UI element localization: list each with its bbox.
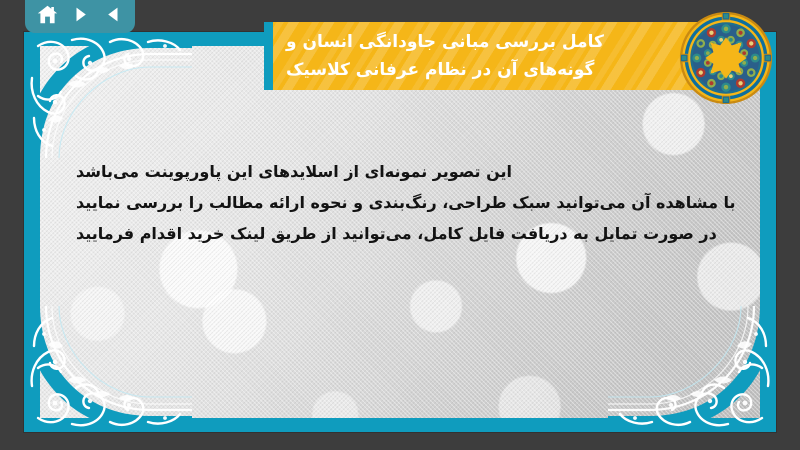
triangle-left-icon <box>105 6 122 23</box>
banner-accent-strip <box>264 22 273 90</box>
title-banner: کامل بررسی مبانی جاودانگی انسان و گونه‌ه… <box>272 22 752 90</box>
triangle-right-icon <box>72 6 89 23</box>
slide-body-text: این تصویر نمونه‌ای از اسلایدهای این پاور… <box>64 160 776 246</box>
title-line-1: کامل بررسی مبانی جاودانگی انسان و <box>286 29 604 55</box>
page-title: کامل بررسی مبانی جاودانگی انسان و گونه‌ه… <box>272 22 752 90</box>
home-icon <box>37 5 58 24</box>
home-button[interactable] <box>34 2 60 26</box>
back-button[interactable] <box>100 2 126 26</box>
body-line-3: در صورت تمایل به دریافت فایل کامل، می‌تو… <box>64 222 717 246</box>
slide-board: این تصویر نمونه‌ای از اسلایدهای این پاور… <box>24 32 776 432</box>
slide-viewer: این تصویر نمونه‌ای از اسلایدهای این پاور… <box>0 0 800 450</box>
title-line-2: گونه‌های آن در نظام عرفانی کلاسیک <box>286 57 594 83</box>
forward-button[interactable] <box>67 2 93 26</box>
body-line-2: با مشاهده آن می‌توانید سبک طراحی، رنگ‌بن… <box>64 191 736 215</box>
navigation-bar <box>25 0 135 33</box>
body-line-1: این تصویر نمونه‌ای از اسلایدهای این پاور… <box>64 160 512 184</box>
